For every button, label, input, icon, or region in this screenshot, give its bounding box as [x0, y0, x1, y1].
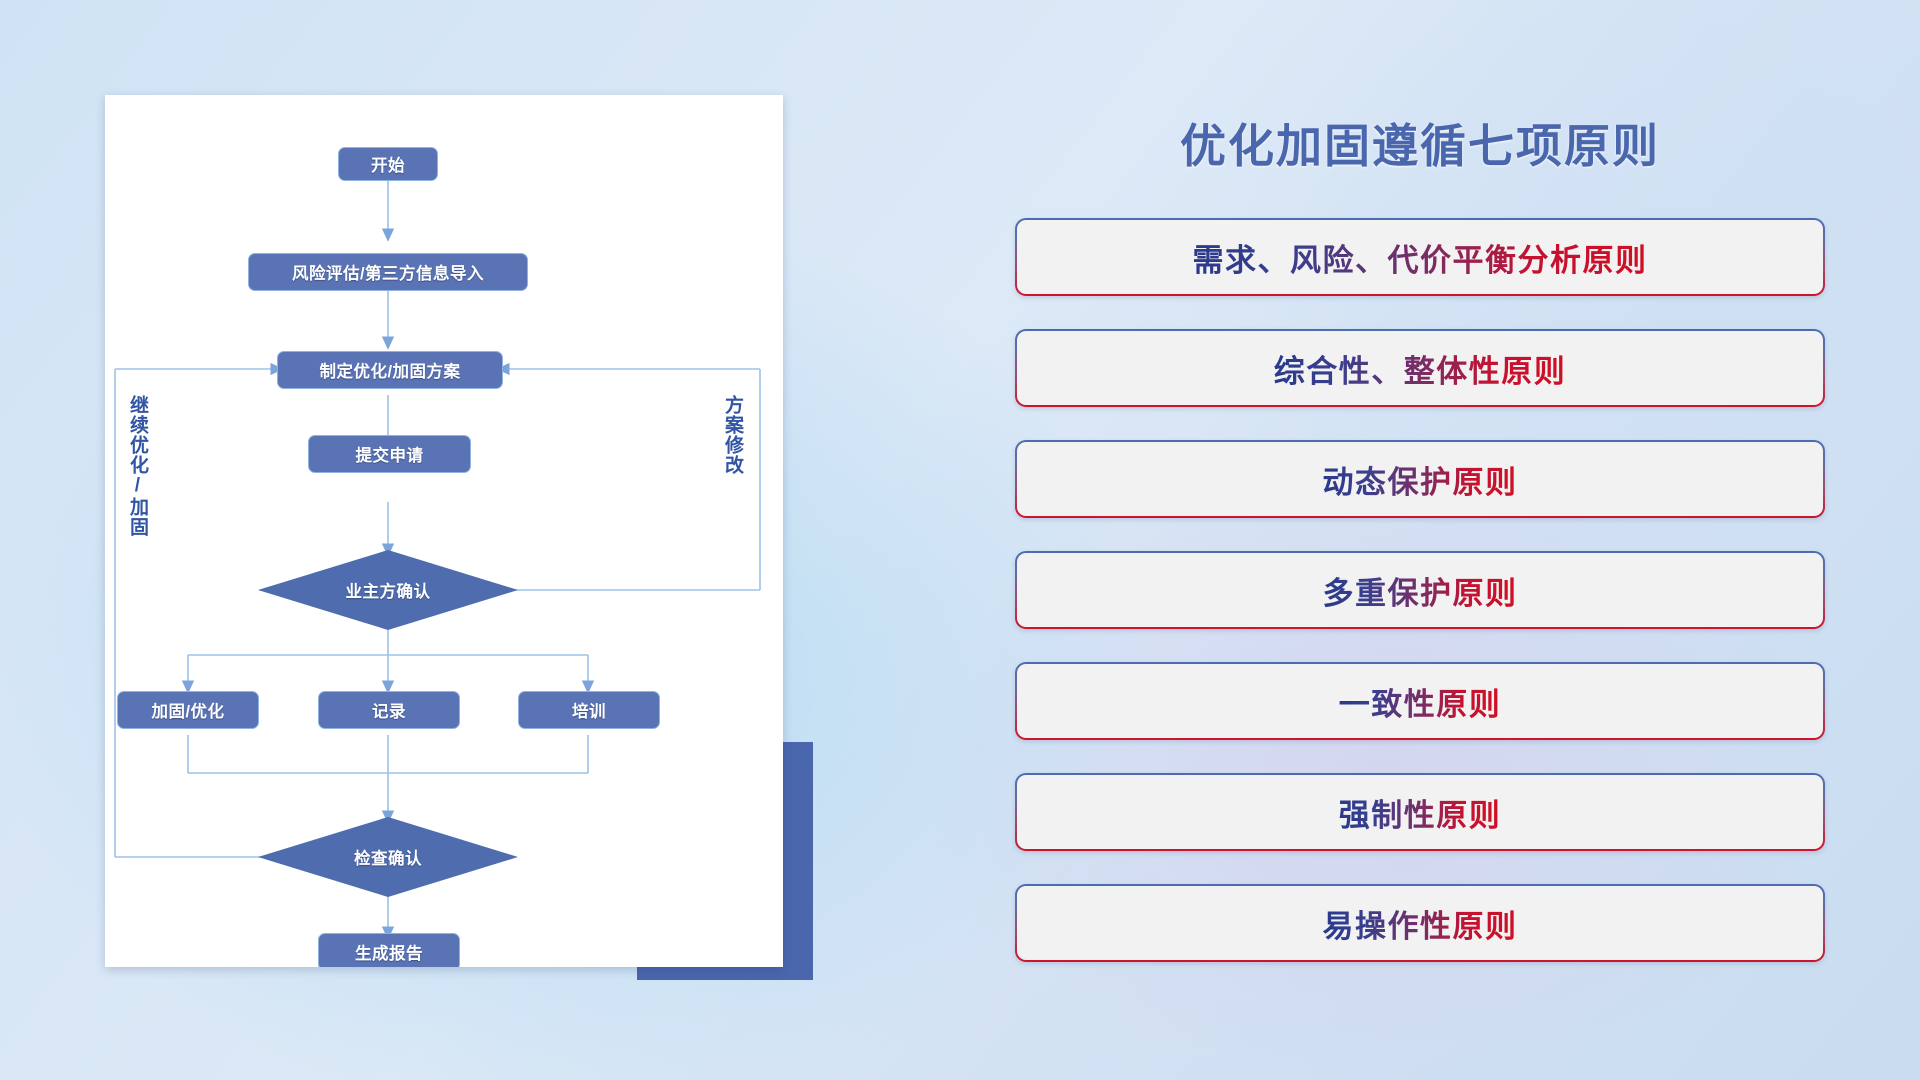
flowchart-canvas: 开始 风险评估/第三方信息导入 制定优化/加固方案 提交申请 业主方确认 加固/… [105, 95, 783, 967]
principle-label: 动态保护原则 [1323, 457, 1518, 502]
flow-node-label: 风险评估/第三方信息导入 [292, 260, 484, 284]
principles-list: 需求、风险、代价平衡分析原则 综合性、整体性原则 动态保护原则 多重保护原则 [1015, 218, 1825, 995]
principle-card-4[interactable]: 多重保护原则 [1015, 551, 1825, 629]
slide-canvas: 开始 风险评估/第三方信息导入 制定优化/加固方案 提交申请 业主方确认 加固/… [0, 0, 1920, 1080]
flow-node-label: 记录 [372, 698, 406, 722]
principle-card-inner: 易操作性原则 [1017, 886, 1823, 960]
flow-label-plan-revision: 方案修改 [722, 395, 742, 475]
principle-card-5[interactable]: 一致性原则 [1015, 662, 1825, 740]
flow-decision-owner-confirm[interactable]: 业主方确认 [258, 550, 518, 630]
principle-label: 需求、风险、代价平衡分析原则 [1193, 235, 1648, 280]
flow-node-label: 业主方确认 [346, 578, 431, 602]
flow-node-label: 生成报告 [355, 940, 423, 964]
principle-label: 易操作性原则 [1323, 901, 1518, 946]
principle-card-inner: 综合性、整体性原则 [1017, 331, 1823, 405]
principle-label: 综合性、整体性原则 [1274, 346, 1567, 391]
flow-node-label: 培训 [572, 698, 606, 722]
flow-node-generate-report[interactable]: 生成报告 [318, 933, 460, 967]
principle-card-2[interactable]: 综合性、整体性原则 [1015, 329, 1825, 407]
principle-card-7[interactable]: 易操作性原则 [1015, 884, 1825, 962]
page-title: 优化加固遵循七项原则 [1015, 110, 1825, 176]
flow-node-reinforce[interactable]: 加固/优化 [117, 691, 259, 729]
flow-label-continue-optimize: 继续优化/加固 [127, 395, 147, 537]
principle-card-inner: 一致性原则 [1017, 664, 1823, 738]
flow-node-label: 提交申请 [356, 442, 424, 466]
principle-label: 强制性原则 [1339, 790, 1502, 835]
flow-node-label: 制定优化/加固方案 [319, 358, 460, 382]
principle-card-3[interactable]: 动态保护原则 [1015, 440, 1825, 518]
flow-node-label: 加固/优化 [151, 698, 224, 722]
principle-label: 一致性原则 [1339, 679, 1502, 724]
flow-node-label: 开始 [371, 152, 405, 176]
principle-card-inner: 需求、风险、代价平衡分析原则 [1017, 220, 1823, 294]
principles-panel: 优化加固遵循七项原则 需求、风险、代价平衡分析原则 综合性、整体性原则 动态保护… [1015, 95, 1825, 995]
principle-card-inner: 多重保护原则 [1017, 553, 1823, 627]
flow-decision-inspection-confirm[interactable]: 检查确认 [258, 817, 518, 897]
flow-node-submit-application[interactable]: 提交申请 [308, 435, 471, 473]
flow-node-risk-assessment[interactable]: 风险评估/第三方信息导入 [248, 253, 528, 291]
flow-node-record[interactable]: 记录 [318, 691, 460, 729]
principle-card-inner: 动态保护原则 [1017, 442, 1823, 516]
flow-node-training[interactable]: 培训 [518, 691, 660, 729]
flow-node-start[interactable]: 开始 [338, 147, 438, 181]
principle-label: 多重保护原则 [1323, 568, 1518, 613]
flow-node-plan[interactable]: 制定优化/加固方案 [277, 351, 503, 389]
flow-node-label: 检查确认 [354, 845, 422, 869]
principle-card-6[interactable]: 强制性原则 [1015, 773, 1825, 851]
principle-card-1[interactable]: 需求、风险、代价平衡分析原则 [1015, 218, 1825, 296]
principle-card-inner: 强制性原则 [1017, 775, 1823, 849]
flowchart-card: 开始 风险评估/第三方信息导入 制定优化/加固方案 提交申请 业主方确认 加固/… [105, 95, 783, 967]
